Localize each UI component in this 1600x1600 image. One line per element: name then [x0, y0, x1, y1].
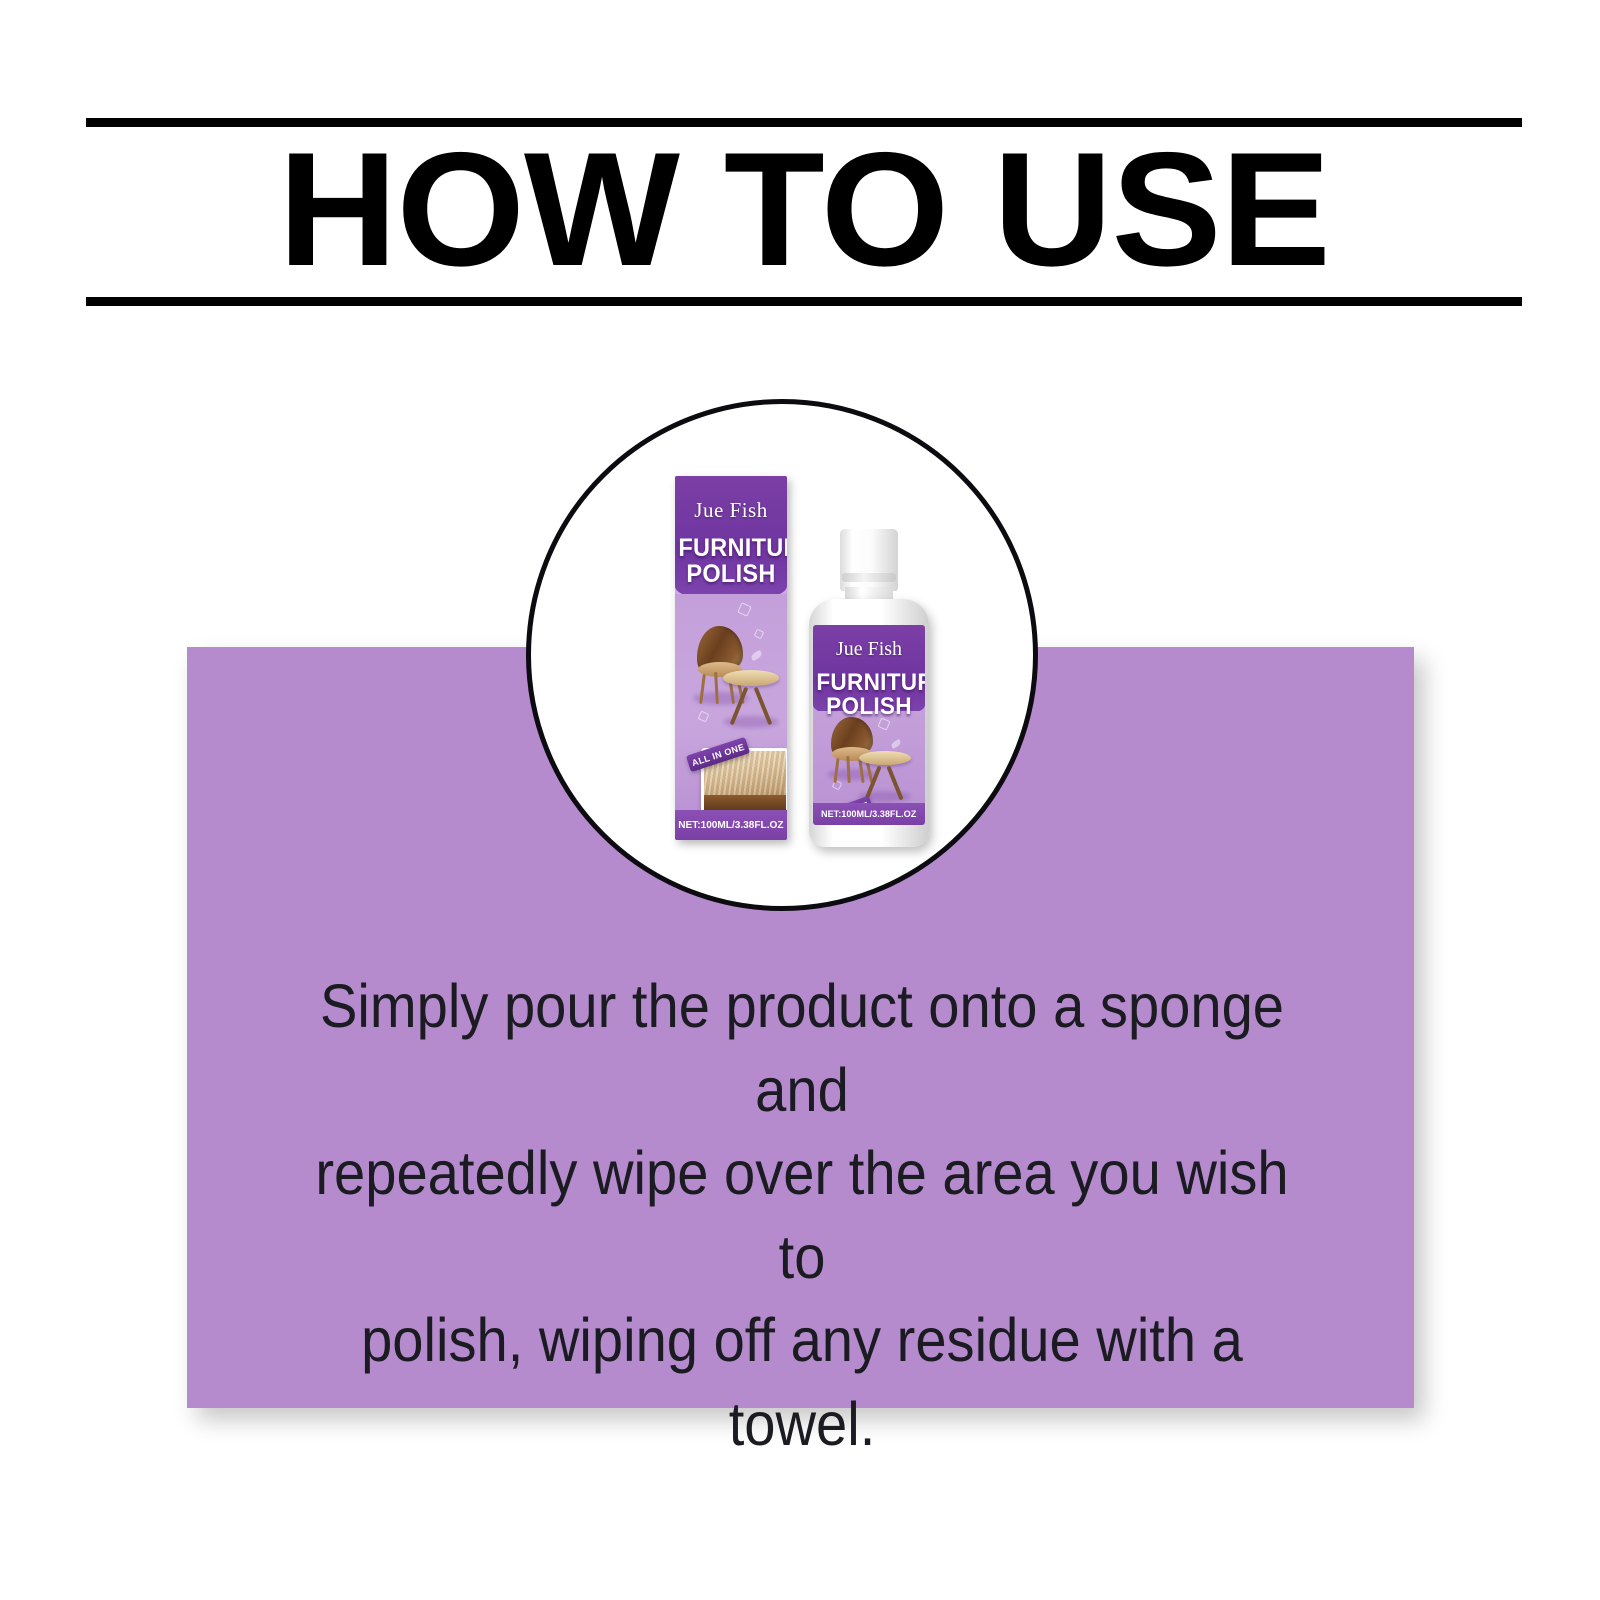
brand-name-bottle: Jue Fish: [813, 638, 925, 661]
carton-scene-area: ALL IN ONE: [675, 594, 787, 810]
product-bottle: ALL IN ONE NET:100ML/3.38FL.OZ Jue Fish …: [809, 529, 929, 847]
product-name-line1-box: FURNITURE: [678, 534, 783, 563]
product-name-line2-bottle: POLISH: [816, 693, 921, 721]
sparkle-icon: [698, 711, 710, 723]
table-illustration: [723, 670, 779, 726]
product-name-line2-box: POLISH: [678, 560, 783, 589]
product-carton-box: ALL IN ONE NET:100ML/3.38FL.OZ Jue Fish …: [675, 476, 787, 840]
bottle-label-footer-band: NET:100ML/3.38FL.OZ: [813, 803, 925, 825]
table-illustration: [859, 751, 911, 801]
carton-footer-band: NET:100ML/3.38FL.OZ: [675, 810, 787, 840]
instruction-text: Simply pour the product onto a sponge an…: [291, 965, 1312, 1466]
page-title: HOW TO USE: [72, 124, 1537, 296]
brand-name-box: Jue Fish: [675, 498, 787, 523]
leaf-icon: [750, 650, 763, 661]
product-image-circle: ALL IN ONE NET:100ML/3.38FL.OZ Jue Fish …: [526, 399, 1038, 911]
net-contents-label: NET:100ML/3.38FL.OZ: [678, 819, 783, 831]
bottle-label: ALL IN ONE NET:100ML/3.38FL.OZ Jue Fish …: [813, 625, 925, 825]
sparkle-icon: [737, 602, 752, 617]
bottle-cap-ridge: [842, 573, 896, 582]
leaf-icon: [890, 739, 902, 749]
furniture-scene-bottle: [813, 711, 925, 803]
page-header: HOW TO USE: [86, 110, 1522, 306]
sparkle-icon: [754, 629, 765, 640]
bottle-scene-area: ALL IN ONE: [813, 711, 925, 803]
header-rule-bottom: [86, 297, 1522, 306]
net-contents-label: NET:100ML/3.38FL.OZ: [821, 809, 916, 820]
